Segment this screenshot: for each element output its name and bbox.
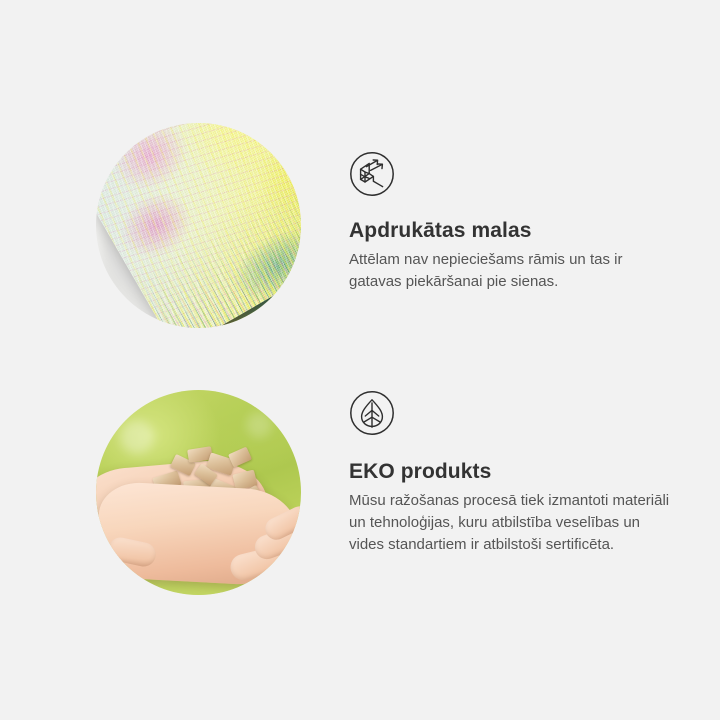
feature-text-printed-edges: Apdrukātas malas Attēlam nav nepieciešam… [349,123,679,293]
feature-image-printed-edges [96,123,301,328]
leaf-icon [349,390,395,436]
feature-description: Mūsu ražošanas procesā tiek izmantoti ma… [349,490,679,556]
wood-chips-photo [96,390,301,595]
feature-block-printed-edges: Apdrukātas malas Attēlam nav nepieciešam… [0,123,679,328]
bokeh-highlight [246,412,272,438]
wrapped-canvas-edge-icon [349,151,395,197]
wood-chip [228,447,252,468]
feature-title: EKO produkts [349,460,679,484]
feature-description: Attēlam nav nepieciešams rāmis un tas ir… [349,249,679,293]
feature-image-eco-product [96,390,301,595]
feature-title: Apdrukātas malas [349,219,679,243]
feature-text-eco-product: EKO produkts Mūsu ražošanas procesā tiek… [349,390,679,556]
feature-block-eco-product: EKO produkts Mūsu ražošanas procesā tiek… [0,390,679,595]
canvas-photo-backdrop [96,123,301,328]
